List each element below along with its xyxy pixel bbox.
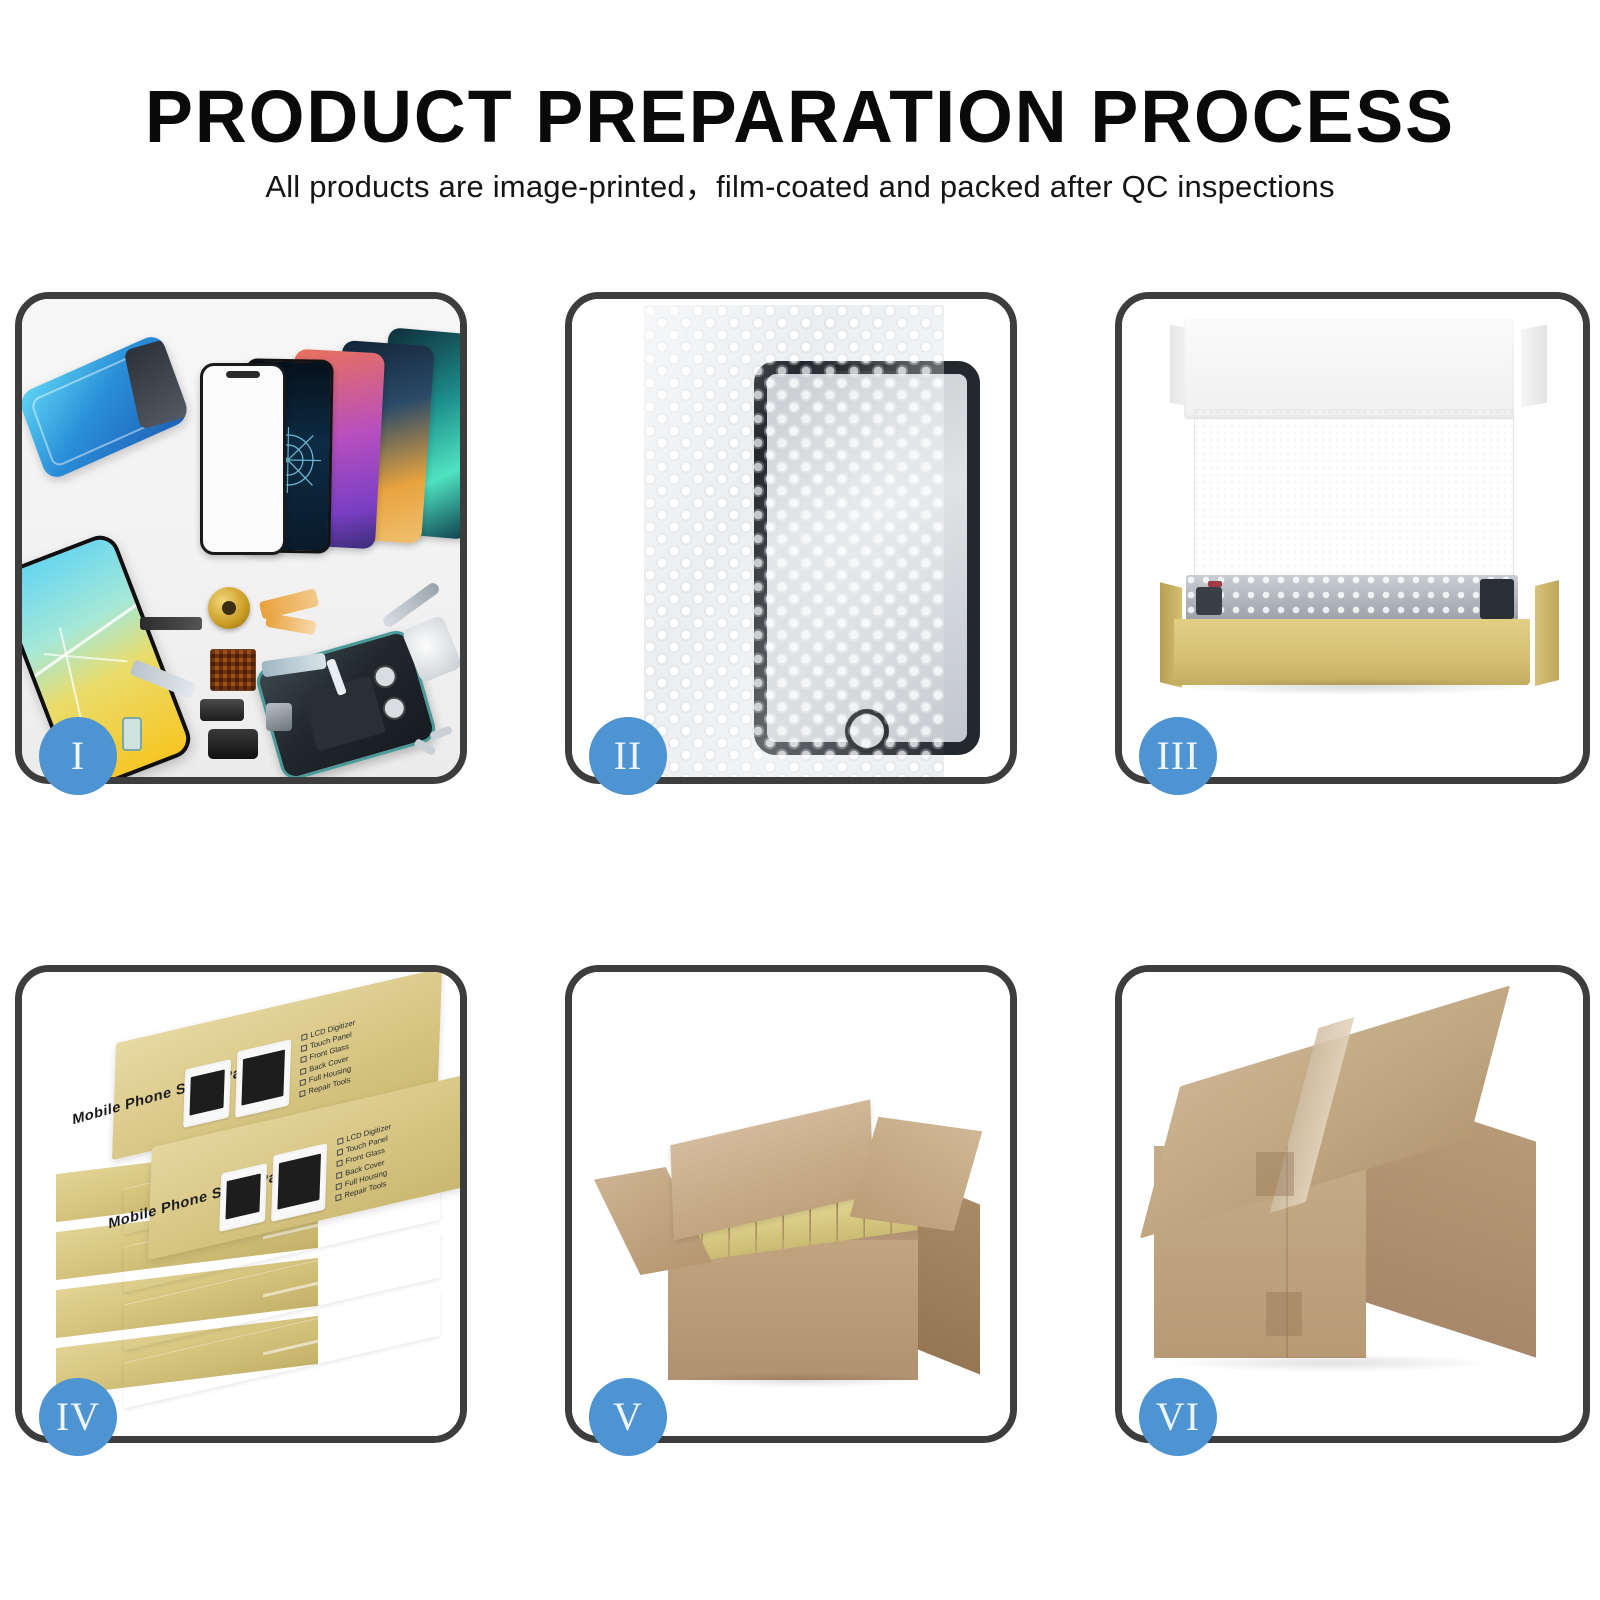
step-panel-1[interactable]: I — [15, 292, 467, 784]
foam-liner — [1194, 409, 1514, 577]
speaker-part — [140, 617, 202, 630]
sim-tray-part — [122, 717, 142, 751]
connector-part — [208, 729, 258, 759]
sealed-shipping-carton — [1154, 1042, 1554, 1372]
packed-screen — [1186, 575, 1518, 623]
step-3-image — [1122, 299, 1583, 777]
step-badge-5: V — [589, 1378, 667, 1456]
step-panel-6[interactable]: VI — [1115, 965, 1590, 1443]
step-4-image: Mobile Phone Spare Parts LCD Digitizer T… — [22, 972, 460, 1436]
step-badge-4: IV — [39, 1378, 117, 1456]
step-panel-5[interactable]: V — [565, 965, 1017, 1443]
step-panel-4[interactable]: Mobile Phone Spare Parts LCD Digitizer T… — [15, 965, 467, 1443]
vibrator-part — [208, 587, 250, 629]
step-1-image — [22, 299, 460, 777]
ic-chip-part — [210, 649, 256, 691]
step-panel-2[interactable]: II — [565, 292, 1017, 784]
step-badge-1: I — [39, 717, 117, 795]
step-badge-3: III — [1139, 717, 1217, 795]
retail-box-brand: Mobile Phone Spare Parts — [72, 1059, 261, 1128]
camera-module-part — [266, 703, 292, 731]
step-5-image — [572, 972, 1010, 1436]
mailer-box-front — [1174, 619, 1530, 685]
bubble-wrap-sheet — [644, 305, 944, 777]
step-badge-6: VI — [1139, 1378, 1217, 1456]
step-badge-2: II — [589, 717, 667, 795]
phone-screen-fan — [142, 327, 460, 577]
infographic-page: PRODUCT PREPARATION PROCESS All products… — [0, 0, 1600, 1600]
connector-part — [200, 699, 244, 721]
box-lid — [1184, 319, 1514, 419]
step-6-image — [1122, 972, 1583, 1436]
process-steps-grid: I II — [0, 0, 1600, 1600]
step-2-image — [572, 299, 1010, 777]
gold-box-stack: Mobile Phone Spare Parts LCD Digitizer T… — [28, 990, 460, 1420]
step-panel-3[interactable]: III — [1115, 292, 1590, 784]
open-shipping-carton — [632, 1060, 962, 1380]
